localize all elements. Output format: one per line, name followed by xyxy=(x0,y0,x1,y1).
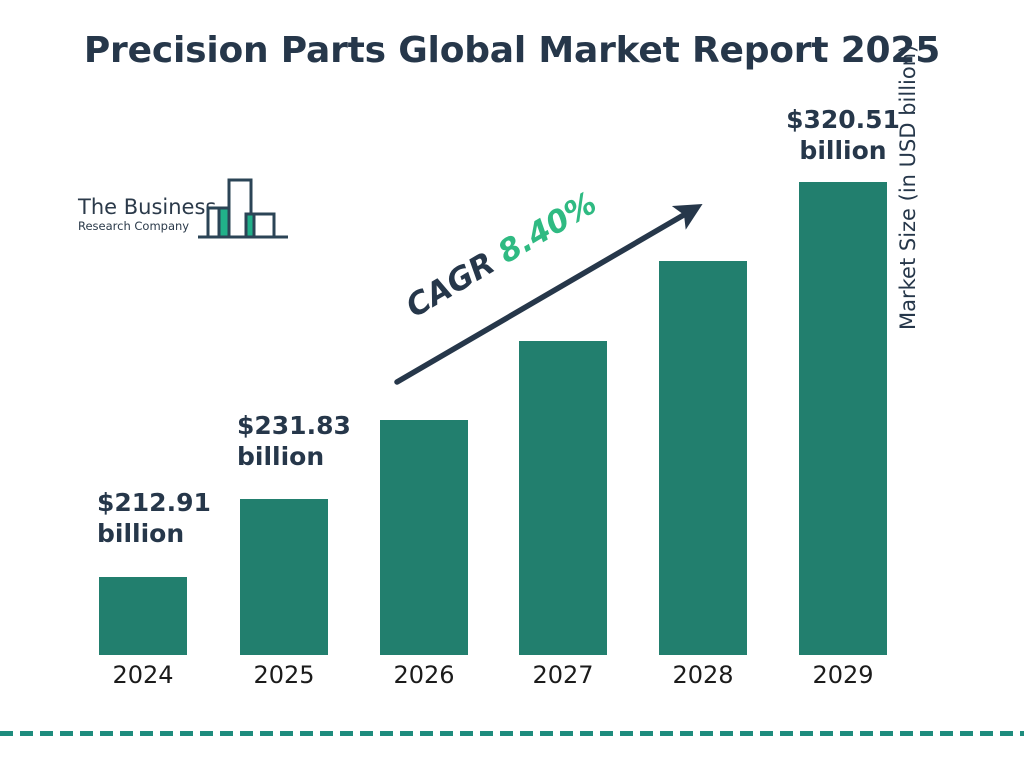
value-label-2025: $231.83 billion xyxy=(237,410,417,472)
chart-page: Precision Parts Global Market Report 202… xyxy=(0,0,1024,768)
x-tick-2025: 2025 xyxy=(240,661,328,689)
value-label-2024-unit: billion xyxy=(97,518,277,549)
x-tick-2028: 2028 xyxy=(659,661,747,689)
cagr-annotation: CAGR 8.40% xyxy=(400,185,603,325)
x-tick-2027: 2027 xyxy=(519,661,607,689)
value-label-2025-amount: $231.83 xyxy=(237,410,417,441)
x-tick-2024: 2024 xyxy=(99,661,187,689)
cagr-label: CAGR xyxy=(400,245,501,325)
value-label-2025-unit: billion xyxy=(237,441,417,472)
x-tick-2029: 2029 xyxy=(799,661,887,689)
bar-2028 xyxy=(659,261,747,655)
cagr-value: 8.40% xyxy=(492,185,603,271)
bar-2027 xyxy=(519,341,607,655)
value-label-2024-amount: $212.91 xyxy=(97,487,277,518)
value-label-2024: $212.91 billion xyxy=(97,487,277,549)
bar-chart-plot-area: $212.91 billion $231.83 billion $320.51 … xyxy=(0,0,1024,768)
bar-2029 xyxy=(799,182,887,655)
bar-2024 xyxy=(99,577,187,655)
y-axis-label: Market Size (in USD billion) xyxy=(896,0,920,330)
footer-divider xyxy=(0,731,1024,736)
x-tick-2026: 2026 xyxy=(380,661,468,689)
